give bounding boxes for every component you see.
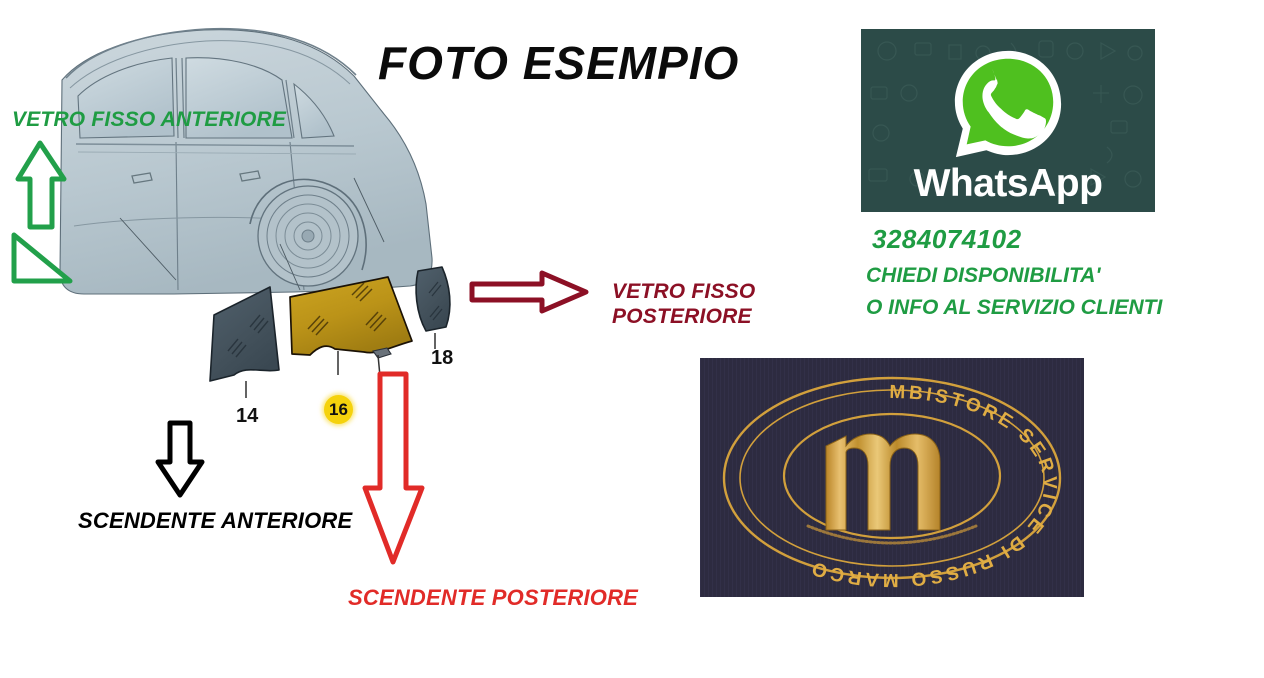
- label-vetro-fisso-anteriore: VETRO FISSO ANTERIORE: [12, 108, 286, 133]
- label-scendente-posteriore: SCENDENTE POSTERIORE: [348, 585, 638, 611]
- customer-service-text-line2: O INFO AL SERVIZIO CLIENTI: [866, 296, 1162, 320]
- whatsapp-banner[interactable]: WhatsApp: [861, 29, 1155, 212]
- callout-badge-16: 16: [324, 395, 353, 424]
- label-vetro-fisso-posteriore: VETRO FISSO POSTERIORE: [612, 280, 755, 330]
- shop-logo: MRICAMBISTORE SERVICE DI RUSSO MARCO: [700, 358, 1084, 597]
- whatsapp-brand-label: WhatsApp: [861, 162, 1155, 206]
- callout-number-18: 18: [431, 348, 453, 368]
- label-scendente-anteriore: SCENDENTE ANTERIORE: [78, 508, 352, 534]
- right-arrow-darkred-icon: [466, 268, 592, 316]
- whatsapp-phone-number[interactable]: 3284074102: [872, 224, 1022, 255]
- callout-number-14: 14: [236, 406, 258, 426]
- screenshot-canvas: 14 16 17 18 FOTO ESEMPIO VETRO FISSO ANT…: [0, 0, 1264, 678]
- whatsapp-logo-icon: [949, 45, 1067, 163]
- page-title: FOTO ESEMPIO: [378, 36, 739, 90]
- exploded-glass-parts: [150, 255, 480, 435]
- availability-text-line1: CHIEDI DISPONIBILITA': [866, 264, 1100, 288]
- callout-number-17: 17: [379, 399, 401, 419]
